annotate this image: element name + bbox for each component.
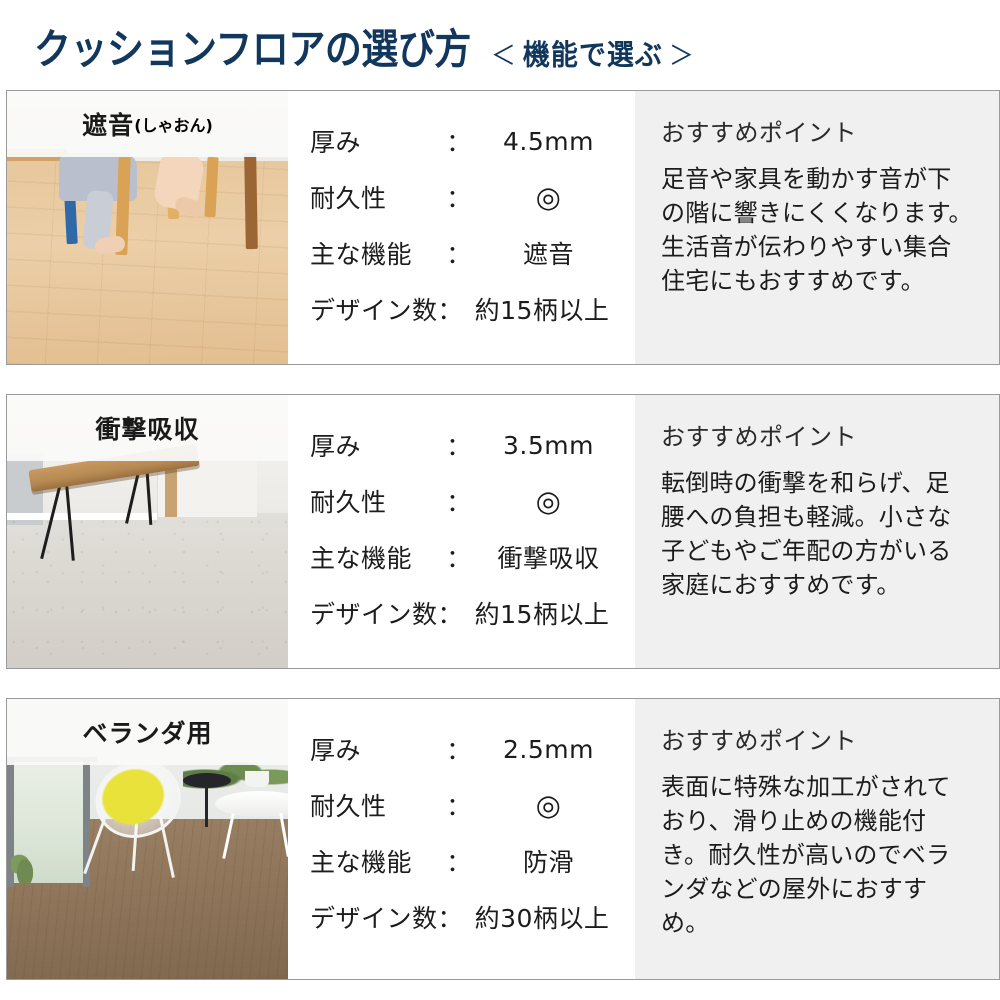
photo-chair-leg-wood-3 xyxy=(204,157,218,217)
recommend-panel: おすすめポイント 表面に特殊な加工がされており、滑り止めの機能付き。耐久性が高い… xyxy=(635,699,999,979)
spec-colon: ： xyxy=(442,123,476,159)
recommend-heading: おすすめポイント xyxy=(661,721,973,756)
spec-row-main-function: 主な機能 ： 防滑 xyxy=(310,833,621,889)
page-subtitle: ＜機能で選ぶ＞ xyxy=(485,32,701,73)
spec-colon: ： xyxy=(438,899,464,935)
product-card[interactable]: 衝撃吸収 厚み ： 3.5mm 耐久性 ： ◎ 主な機能 ： 衝撃吸収 デザイン… xyxy=(6,394,1000,669)
card-badge: 遮音(しゃおん) xyxy=(7,91,288,157)
spec-value-main-function: 防滑 xyxy=(476,843,621,879)
spec-value-thickness: 3.5mm xyxy=(476,431,621,460)
photo-white-table-leg-2 xyxy=(279,813,288,857)
spec-colon: ： xyxy=(442,483,476,519)
recommend-panel: おすすめポイント 転倒時の衝撃を和らげ、足腰への負担も軽減。小さな子どもやご年配… xyxy=(635,395,999,668)
spec-row-durability: 耐久性 ： ◎ xyxy=(310,777,621,833)
spec-table: 厚み ： 2.5mm 耐久性 ： ◎ 主な機能 ： 防滑 デザイン数 ： 約30… xyxy=(288,699,635,979)
spec-value-durability: ◎ xyxy=(476,487,621,516)
spec-colon: ： xyxy=(442,179,476,215)
spec-colon: ： xyxy=(442,235,476,271)
subtitle-text: 機能で選ぶ xyxy=(523,39,663,72)
card-badge-label: 遮音 xyxy=(82,106,134,142)
spec-row-main-function: 主な機能 ： 遮音 xyxy=(310,225,621,281)
page-header: クッションフロアの選び方 ＜機能で選ぶ＞ xyxy=(0,0,1000,90)
spec-label-design-count: デザイン数 xyxy=(310,899,438,935)
recommend-text: 転倒時の衝撃を和らげ、足腰への負担も軽減。小さな子どもやご年配の方がいる家庭にお… xyxy=(661,466,973,602)
card-badge-ruby: (しゃおん) xyxy=(134,112,213,136)
spec-label-main-function: 主な機能 xyxy=(310,235,442,271)
spec-label-durability: 耐久性 xyxy=(310,179,442,215)
spec-label-thickness: 厚み xyxy=(310,731,442,767)
bracket-close-icon: ＞ xyxy=(663,40,701,70)
product-photo: 衝撃吸収 xyxy=(7,395,288,668)
spec-value-design-count: 約15柄以上 xyxy=(463,291,621,327)
spec-label-durability: 耐久性 xyxy=(310,787,442,823)
spec-table: 厚み ： 4.5mm 耐久性 ： ◎ 主な機能 ： 遮音 デザイン数 ： 約15… xyxy=(288,91,635,364)
recommend-heading: おすすめポイント xyxy=(661,417,973,452)
card-badge-label: ベランダ用 xyxy=(82,714,212,750)
recommend-text: 足音や家具を動かす音が下の階に響きにくくなります。生活音が伝わりやすい集合住宅に… xyxy=(661,162,973,298)
spec-value-thickness: 2.5mm xyxy=(476,735,621,764)
product-photo: ベランダ用 xyxy=(7,699,288,979)
spec-colon: ： xyxy=(442,843,476,879)
recommend-text: 表面に特殊な加工がされており、滑り止めの機能付き。耐久性が高いのでベランダなどの… xyxy=(661,770,973,940)
product-card[interactable]: 遮音(しゃおん) 厚み ： 4.5mm 耐久性 ： ◎ 主な機能 ： 遮音 デザ… xyxy=(6,90,1000,365)
card-badge: 衝撃吸収 xyxy=(7,395,288,461)
spec-label-design-count: デザイン数 xyxy=(310,595,438,631)
page-title: クッションフロアの選び方 xyxy=(34,16,471,76)
spec-row-design-count: デザイン数 ： 約15柄以上 xyxy=(310,281,621,337)
spec-colon: ： xyxy=(442,731,476,767)
spec-label-main-function: 主な機能 xyxy=(310,539,442,575)
spec-value-thickness: 4.5mm xyxy=(476,127,621,156)
spec-label-main-function: 主な機能 xyxy=(310,843,442,879)
product-card[interactable]: ベランダ用 厚み ： 2.5mm 耐久性 ： ◎ 主な機能 ： 防滑 デザイン数… xyxy=(6,698,1000,980)
spec-value-design-count: 約30柄以上 xyxy=(463,899,621,935)
spec-label-thickness: 厚み xyxy=(310,123,442,159)
card-badge-label: 衝撃吸収 xyxy=(95,410,199,446)
photo-chair-leg-wood-4 xyxy=(244,153,258,249)
spec-colon: ： xyxy=(438,595,464,631)
spec-row-design-count: デザイン数 ： 約15柄以上 xyxy=(310,585,621,641)
spec-value-durability: ◎ xyxy=(476,183,621,212)
spec-label-design-count: デザイン数 xyxy=(310,291,438,327)
photo-floor-texture xyxy=(7,513,288,668)
bracket-open-icon: ＜ xyxy=(485,40,523,70)
spec-label-thickness: 厚み xyxy=(310,427,442,463)
spec-colon: ： xyxy=(442,427,476,463)
spec-value-main-function: 衝撃吸収 xyxy=(476,539,621,575)
spec-row-durability: 耐久性 ： ◎ xyxy=(310,473,621,529)
spec-row-thickness: 厚み ： 2.5mm xyxy=(310,721,621,777)
spec-colon: ： xyxy=(442,787,476,823)
recommend-panel: おすすめポイント 足音や家具を動かす音が下の階に響きにくくなります。生活音が伝わ… xyxy=(635,91,999,364)
spec-row-thickness: 厚み ： 3.5mm xyxy=(310,417,621,473)
photo-corner-plant xyxy=(11,849,39,883)
photo-white-table-leg-1 xyxy=(222,813,234,859)
spec-label-durability: 耐久性 xyxy=(310,483,442,519)
photo-black-table-leg xyxy=(205,785,208,827)
recommend-heading: おすすめポイント xyxy=(661,113,973,148)
spec-colon: ： xyxy=(438,291,464,327)
spec-table: 厚み ： 3.5mm 耐久性 ： ◎ 主な機能 ： 衝撃吸収 デザイン数 ： 約… xyxy=(288,395,635,668)
spec-row-main-function: 主な機能 ： 衝撃吸収 xyxy=(310,529,621,585)
spec-row-design-count: デザイン数 ： 約30柄以上 xyxy=(310,889,621,945)
card-list: 遮音(しゃおん) 厚み ： 4.5mm 耐久性 ： ◎ 主な機能 ： 遮音 デザ… xyxy=(0,90,1000,980)
photo-plant-pot xyxy=(245,771,269,787)
spec-row-thickness: 厚み ： 4.5mm xyxy=(310,113,621,169)
spec-colon: ： xyxy=(442,539,476,575)
spec-row-durability: 耐久性 ： ◎ xyxy=(310,169,621,225)
product-photo: 遮音(しゃおん) xyxy=(7,91,288,364)
card-badge: ベランダ用 xyxy=(7,699,288,765)
spec-value-durability: ◎ xyxy=(476,791,621,820)
spec-value-main-function: 遮音 xyxy=(476,235,621,271)
spec-value-design-count: 約15柄以上 xyxy=(463,595,621,631)
